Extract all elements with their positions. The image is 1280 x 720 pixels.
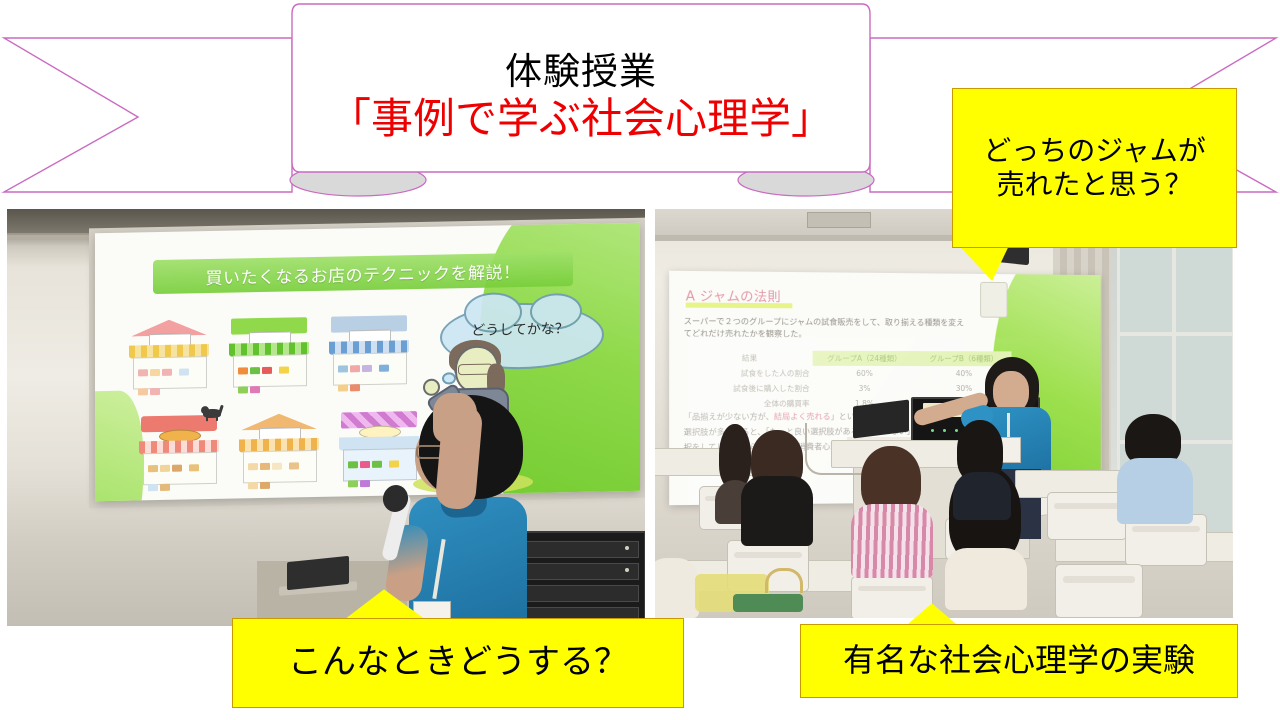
- ribbon-title-text: 体験授業 「事例で学ぶ社会心理学」: [292, 22, 870, 172]
- callout-experiment-label[interactable]: 有名な社会心理学の実験: [800, 600, 1238, 720]
- photo-lecture-shops: 買いたくなるお店のテクニックを解説！ どうしてかな？: [7, 209, 645, 626]
- callout-situation-text: こんなときどうする？: [288, 642, 628, 683]
- student: [1117, 414, 1193, 522]
- shop-greengrocer: [229, 317, 309, 389]
- shop-bakery: [139, 415, 219, 487]
- student: [953, 420, 1011, 506]
- callout-jam-box[interactable]: どっちのジャムが 売れたと思う？: [952, 88, 1237, 248]
- callout-situation-question[interactable]: こんなときどうする？: [232, 588, 684, 720]
- shop-goods: [247, 455, 311, 474]
- callout-jam-line-1: どっちのジャムが: [983, 134, 1206, 168]
- student: [741, 430, 813, 540]
- slide-canvas: 体験授業 「事例で学ぶ社会心理学」 買いたくなるお店のテクニックを解説！ どうし…: [0, 0, 1280, 720]
- row-label: 試食後に購入した割合: [686, 381, 813, 396]
- rack-led: [625, 568, 629, 572]
- row-value-a: 3%: [813, 381, 916, 396]
- green-item: [733, 594, 803, 612]
- row-value-a: 60%: [813, 366, 916, 381]
- callout-jam-question[interactable]: どっちのジャムが 売れたと思う？: [952, 88, 1237, 248]
- student: [851, 446, 933, 566]
- shop-goods: [337, 357, 401, 376]
- shop-goods: [237, 359, 301, 378]
- callout-situation-box[interactable]: こんなときどうする？: [232, 618, 684, 708]
- student-body: [741, 476, 813, 546]
- shop-goods: [137, 361, 201, 380]
- callout-experiment-text: 有名な社会心理学の実験: [843, 641, 1195, 680]
- banner-line-2: 「事例で学ぶ社会心理学」: [329, 95, 833, 143]
- callout-experiment-box[interactable]: 有名な社会心理学の実験: [800, 624, 1238, 698]
- projection-screen-left: 買いたくなるお店のテクニックを解説！ どうしてかな？: [95, 223, 640, 501]
- shop-fishmonger: [329, 315, 409, 387]
- shop-sweets: [239, 413, 319, 485]
- banner-line-1: 体験授業: [505, 51, 657, 94]
- chair: [1047, 492, 1127, 540]
- student-body: [851, 504, 933, 578]
- presenter-raised-hand: [433, 393, 477, 443]
- student-body: [1117, 458, 1193, 524]
- cat-leg: [206, 416, 208, 421]
- student-body: [953, 472, 1011, 520]
- shop-goods: [147, 457, 211, 476]
- bag-handle: [765, 568, 803, 593]
- character-glasses-icon: [458, 364, 493, 376]
- shop-butcher: [129, 319, 209, 391]
- thought-bubble-text: どうしてかな？: [440, 318, 600, 341]
- table-corner-label: 結果: [686, 350, 813, 366]
- ceiling-vent: [807, 212, 871, 228]
- callout-jam-line-2: 売れたと思う？: [983, 168, 1206, 202]
- slide-title-underline: [686, 303, 793, 309]
- table-col-group-a: グループA（24種類）: [813, 351, 916, 366]
- slide-body-line-2: てどれだけ売れたかを観察した。: [684, 328, 1016, 342]
- cat-tail: [217, 405, 224, 417]
- rack-led: [625, 546, 629, 550]
- row-label: 試食をした人の割合: [686, 366, 813, 381]
- cat-illustration: [201, 405, 227, 421]
- slide-body-text: スーパーで２つのグループにジャムの試食販売をして、取り揃える種類を変え てどれだ…: [684, 316, 1016, 342]
- cat-leg: [216, 416, 218, 421]
- classroom-desks-and-students: [655, 408, 1233, 618]
